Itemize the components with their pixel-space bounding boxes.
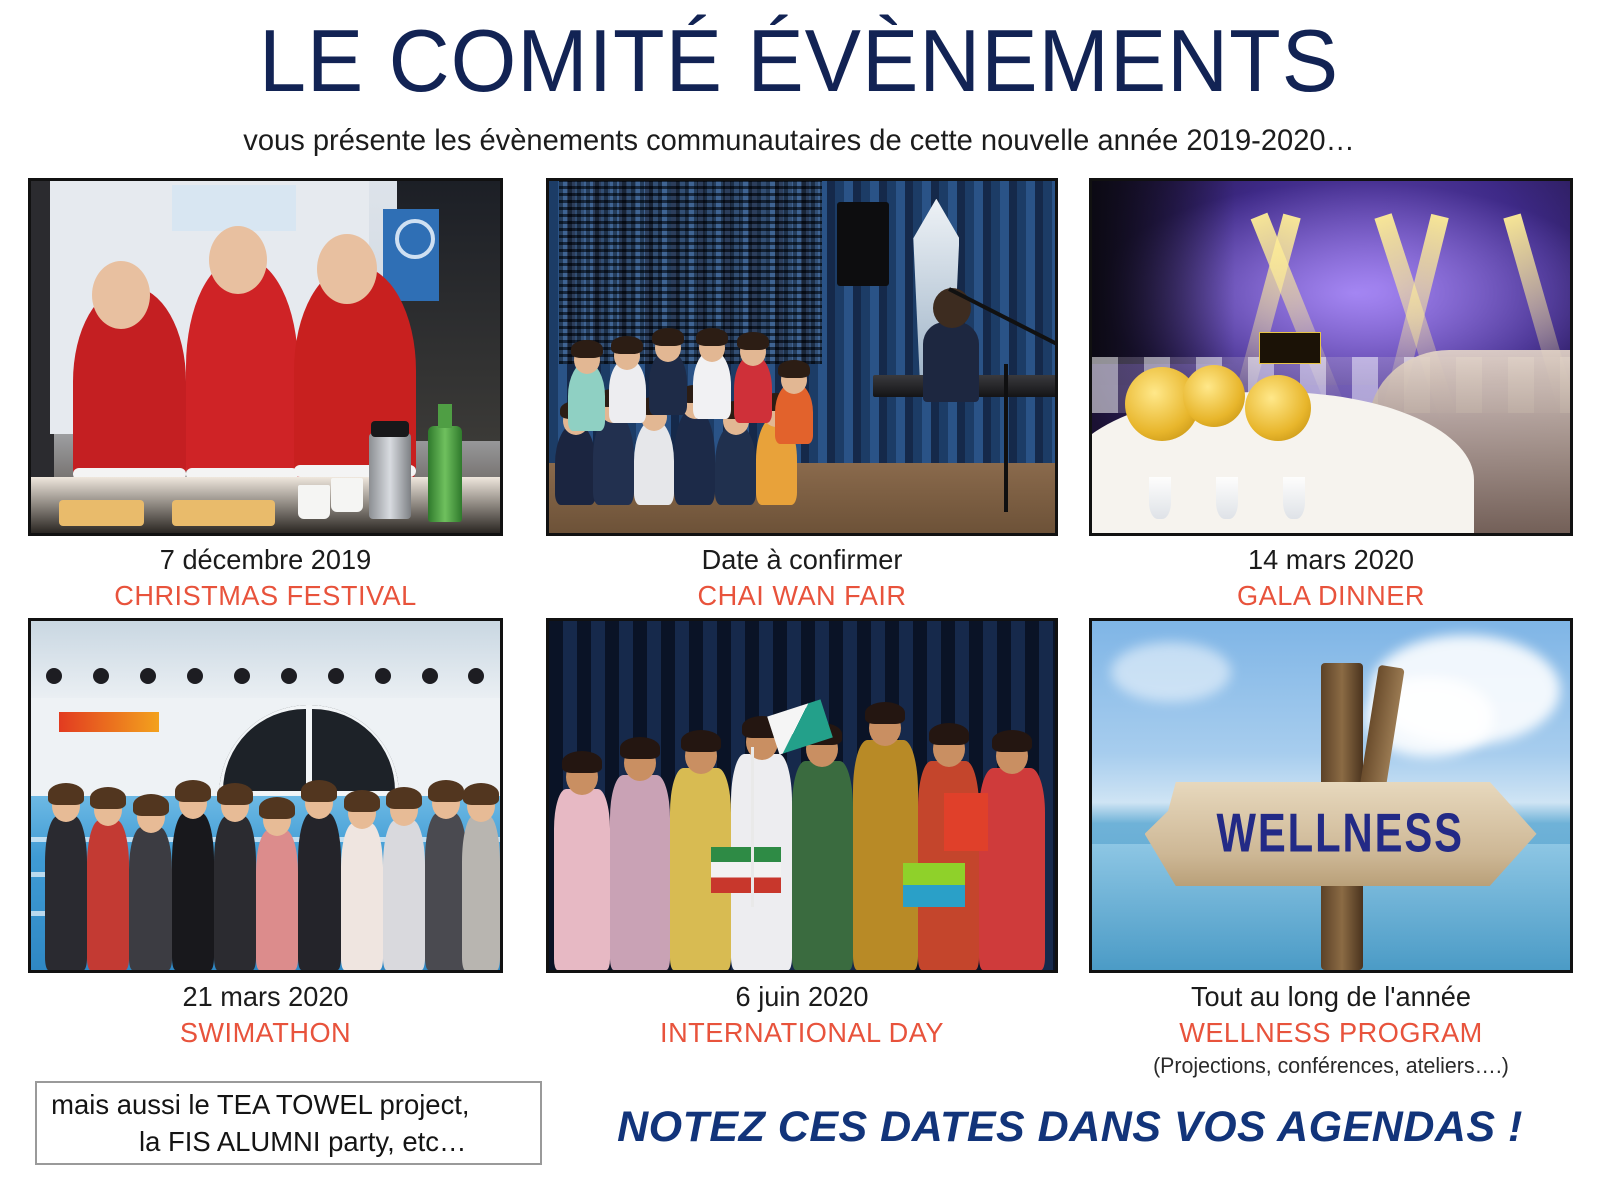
event-date: 21 mars 2020 (35, 979, 496, 1015)
caption-international-day: 6 juin 2020 INTERNATIONAL DAY (546, 973, 1058, 1051)
event-name: SWIMATHON (35, 1015, 496, 1051)
caption-chai-wan-fair: Date à confirmer CHAI WAN FAIR (546, 536, 1058, 614)
event-card-international-day[interactable]: 6 juin 2020 INTERNATIONAL DAY (546, 618, 1058, 1051)
events-row-1: 7 décembre 2019 CHRISTMAS FESTIVAL (28, 178, 1573, 618)
events-row-2: 21 mars 2020 SWIMATHON (28, 618, 1573, 1063)
photo-wellness-program: WELLNESS (1089, 618, 1573, 973)
caption-wellness-program: Tout au long de l'année WELLNESS PROGRAM… (1089, 973, 1573, 1081)
event-name: CHAI WAN FAIR (554, 578, 1051, 614)
page-title: LE COMITÉ ÉVÈNEMENTS (32, 6, 1566, 116)
photo-swimathon (28, 618, 503, 973)
event-card-christmas-festival[interactable]: 7 décembre 2019 CHRISTMAS FESTIVAL (28, 178, 503, 614)
event-date: Date à confirmer (554, 542, 1051, 578)
additional-events-line-2: la FIS ALUMNI party, etc… (110, 1123, 467, 1160)
event-name: WELLNESS PROGRAM (1096, 1015, 1565, 1051)
caption-swimathon: 21 mars 2020 SWIMATHON (28, 973, 503, 1051)
wellness-sign-text: WELLNESS (1217, 803, 1464, 866)
event-name: INTERNATIONAL DAY (554, 1015, 1051, 1051)
event-date: 14 mars 2020 (1096, 542, 1565, 578)
event-card-chai-wan-fair[interactable]: Date à confirmer CHAI WAN FAIR (546, 178, 1058, 614)
event-card-wellness-program[interactable]: WELLNESS Tout au long de l'année WELLNES… (1089, 618, 1573, 1081)
event-card-gala-dinner[interactable]: 14 mars 2020 GALA DINNER (1089, 178, 1573, 614)
poster-root: LE COMITÉ ÉVÈNEMENTS vous présente les é… (0, 0, 1598, 1200)
wellness-signboard: WELLNESS (1145, 782, 1537, 887)
event-note: (Projections, conférences, ateliers….) (1096, 1051, 1565, 1081)
caption-christmas-festival: 7 décembre 2019 CHRISTMAS FESTIVAL (28, 536, 503, 614)
additional-events-line-1: mais aussi le TEA TOWEL project, (41, 1086, 469, 1123)
additional-events-box: mais aussi le TEA TOWEL project, la FIS … (35, 1081, 542, 1165)
call-to-action-text: NOTEZ CES DATES DANS VOS AGENDAS ! (575, 1099, 1565, 1155)
event-date: 6 juin 2020 (554, 979, 1051, 1015)
photo-chai-wan-fair (546, 178, 1058, 536)
photo-christmas-festival (28, 178, 503, 536)
event-date: 7 décembre 2019 (35, 542, 496, 578)
photo-international-day (546, 618, 1058, 973)
caption-gala-dinner: 14 mars 2020 GALA DINNER (1089, 536, 1573, 614)
event-date: Tout au long de l'année (1096, 979, 1565, 1015)
event-name: GALA DINNER (1096, 578, 1565, 614)
photo-gala-dinner (1089, 178, 1573, 536)
event-card-swimathon[interactable]: 21 mars 2020 SWIMATHON (28, 618, 503, 1051)
events-grid: 7 décembre 2019 CHRISTMAS FESTIVAL (28, 178, 1573, 1063)
event-name: CHRISTMAS FESTIVAL (35, 578, 496, 614)
page-subtitle: vous présente les évènements communautai… (24, 122, 1574, 160)
